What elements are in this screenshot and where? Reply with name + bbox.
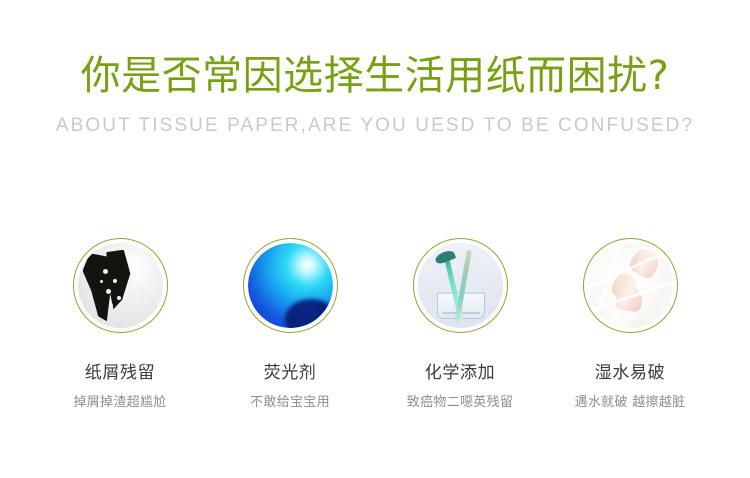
- feature-subtitle: 不敢给宝宝用: [250, 393, 330, 413]
- heading-block: 你是否常因选择生活用纸而困扰? ABOUT TISSUE PAPER,ARE Y…: [0, 52, 750, 138]
- feature-badge: [583, 238, 678, 333]
- feature-title: 湿水易破: [595, 361, 665, 385]
- feature-item-fluorescent-agent: 荧光剂 不敢给宝宝用: [205, 238, 375, 413]
- chemical-pour-beaker-icon: [418, 243, 503, 328]
- feature-badge: [413, 238, 508, 333]
- wet-tissue-fingers-icon: [588, 243, 673, 328]
- feature-badge: [243, 238, 338, 333]
- feature-subtitle: 遇水就破 越擦越脏: [575, 393, 686, 413]
- paper-scraps-icon: [78, 243, 163, 328]
- feature-subtitle: 致癌物二噁英残留: [407, 393, 513, 413]
- promo-banner: 你是否常因选择生活用纸而困扰? ABOUT TISSUE PAPER,ARE Y…: [0, 0, 750, 478]
- page-subtitle: ABOUT TISSUE PAPER,ARE YOU UESD TO BE CO…: [0, 114, 750, 138]
- feature-title: 荧光剂: [264, 361, 317, 385]
- feature-title: 纸屑残留: [85, 361, 155, 385]
- feature-item-chemical-additives: 化学添加 致癌物二噁英残留: [375, 238, 545, 413]
- blue-glow-sphere-icon: [248, 243, 333, 328]
- page-title: 你是否常因选择生活用纸而困扰?: [0, 52, 750, 100]
- feature-subtitle: 掉屑掉渣超尴尬: [73, 393, 166, 413]
- feature-item-tears-when-wet: 湿水易破 遇水就破 越擦越脏: [545, 238, 715, 413]
- feature-title: 化学添加: [425, 361, 495, 385]
- feature-item-paper-scraps: 纸屑残留 掉屑掉渣超尴尬: [35, 238, 205, 413]
- feature-row: 纸屑残留 掉屑掉渣超尴尬 荧光剂 不敢给宝宝用: [0, 238, 750, 413]
- feature-badge: [73, 238, 168, 333]
